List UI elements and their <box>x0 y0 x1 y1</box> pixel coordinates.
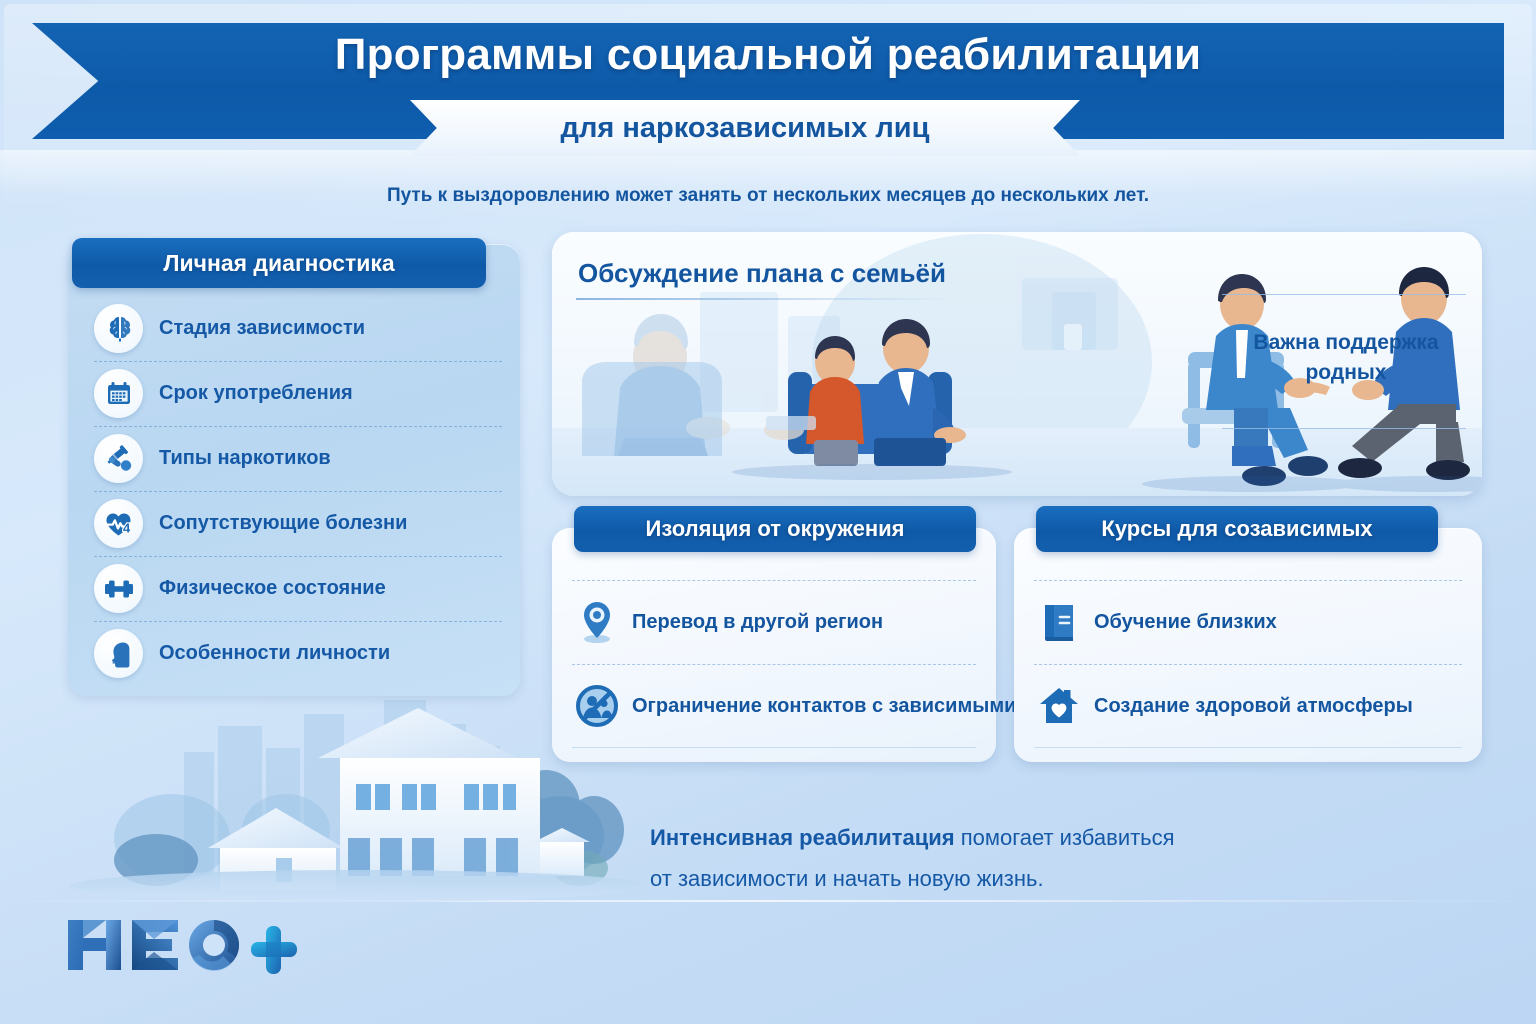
head-profile-icon <box>94 629 143 678</box>
list-item-label: Срок употребления <box>159 382 353 405</box>
list-item-label: Обучение близких <box>1094 611 1277 634</box>
list-item[interactable]: Особенности личности <box>68 621 520 686</box>
diagnostics-list: Стадия зависимости <box>68 296 520 686</box>
list-item-label: Создание здоровой атмосферы <box>1094 695 1413 718</box>
isolation-card-title: Изоляция от окружения <box>574 506 976 552</box>
family-discussion-card: Обсуждение плана с семьёй Важна поддержк… <box>552 232 1482 496</box>
list-item-label: Стадия зависимости <box>159 317 365 340</box>
list-item[interactable]: Перевод в другой регион <box>552 580 996 664</box>
list-item[interactable]: Типы наркотиков <box>68 426 520 491</box>
title-underline <box>576 298 954 300</box>
list-item-label: Физическое состояние <box>159 577 386 600</box>
brand-logo <box>62 908 312 982</box>
list-item[interactable]: Физическое состояние <box>68 556 520 621</box>
list-item[interactable]: 4 Сопутствующие болезни <box>68 491 520 556</box>
courses-list: Обучение близких Создание здоровой атмос… <box>1014 580 1482 748</box>
diagnostics-panel-title: Личная диагностика <box>72 238 486 288</box>
heart-pulse-icon: 4 <box>94 499 143 548</box>
list-item[interactable]: Обучение близких <box>1014 580 1482 664</box>
list-item[interactable]: Срок употребления <box>68 361 520 426</box>
list-item-label: Перевод в другой регион <box>632 611 883 634</box>
closing-statement: Интенсивная реабилитация помогает избави… <box>650 818 1410 899</box>
book-icon <box>1036 599 1082 645</box>
no-people-icon <box>574 683 620 729</box>
svg-text:4: 4 <box>123 520 131 535</box>
infographic-canvas: Программы социальной реабилитации для на… <box>0 0 1536 1024</box>
list-item-label: Типы наркотиков <box>159 447 331 470</box>
isolation-list: Перевод в другой регион <box>552 580 996 748</box>
closing-line-1: Интенсивная реабилитация помогает избави… <box>650 818 1410 859</box>
closing-line-2: от зависимости и начать новую жизнь. <box>650 859 1410 900</box>
house-heart-icon <box>1036 683 1082 729</box>
page-title: Программы социальной реабилитации <box>0 30 1536 80</box>
list-item[interactable]: Стадия зависимости <box>68 296 520 361</box>
page-subtitle: для наркозависимых лиц <box>410 100 1080 156</box>
brain-icon <box>94 304 143 353</box>
family-discussion-title: Обсуждение плана с семьёй <box>578 258 946 289</box>
map-pin-icon <box>574 599 620 645</box>
list-item[interactable]: Создание здоровой атмосферы <box>1014 664 1482 748</box>
dumbbell-icon <box>94 564 143 613</box>
intro-text: Путь к выздоровлению может занять от нес… <box>0 185 1536 207</box>
syringe-icon <box>94 434 143 483</box>
closing-rest: помогает избавиться <box>955 825 1175 850</box>
courses-card: Курсы для созависимых Обучение близких <box>1014 528 1482 762</box>
courses-card-title: Курсы для созависимых <box>1036 506 1438 552</box>
aside-rule-bottom <box>1222 428 1466 429</box>
list-item-label: Сопутствующие болезни <box>159 512 407 535</box>
aside-rule-top <box>1222 294 1466 295</box>
calendar-icon <box>94 369 143 418</box>
list-item[interactable]: Ограничение контактов с зависимыми <box>552 664 996 748</box>
list-item-label: Особенности личности <box>159 642 390 665</box>
list-item-label: Ограничение контактов с зависимыми <box>632 695 1016 718</box>
isolation-card: Изоляция от окружения Перевод в другой р… <box>552 528 996 762</box>
support-note: Важна поддержка родных <box>1232 328 1460 389</box>
closing-strong: Интенсивная реабилитация <box>650 825 955 850</box>
